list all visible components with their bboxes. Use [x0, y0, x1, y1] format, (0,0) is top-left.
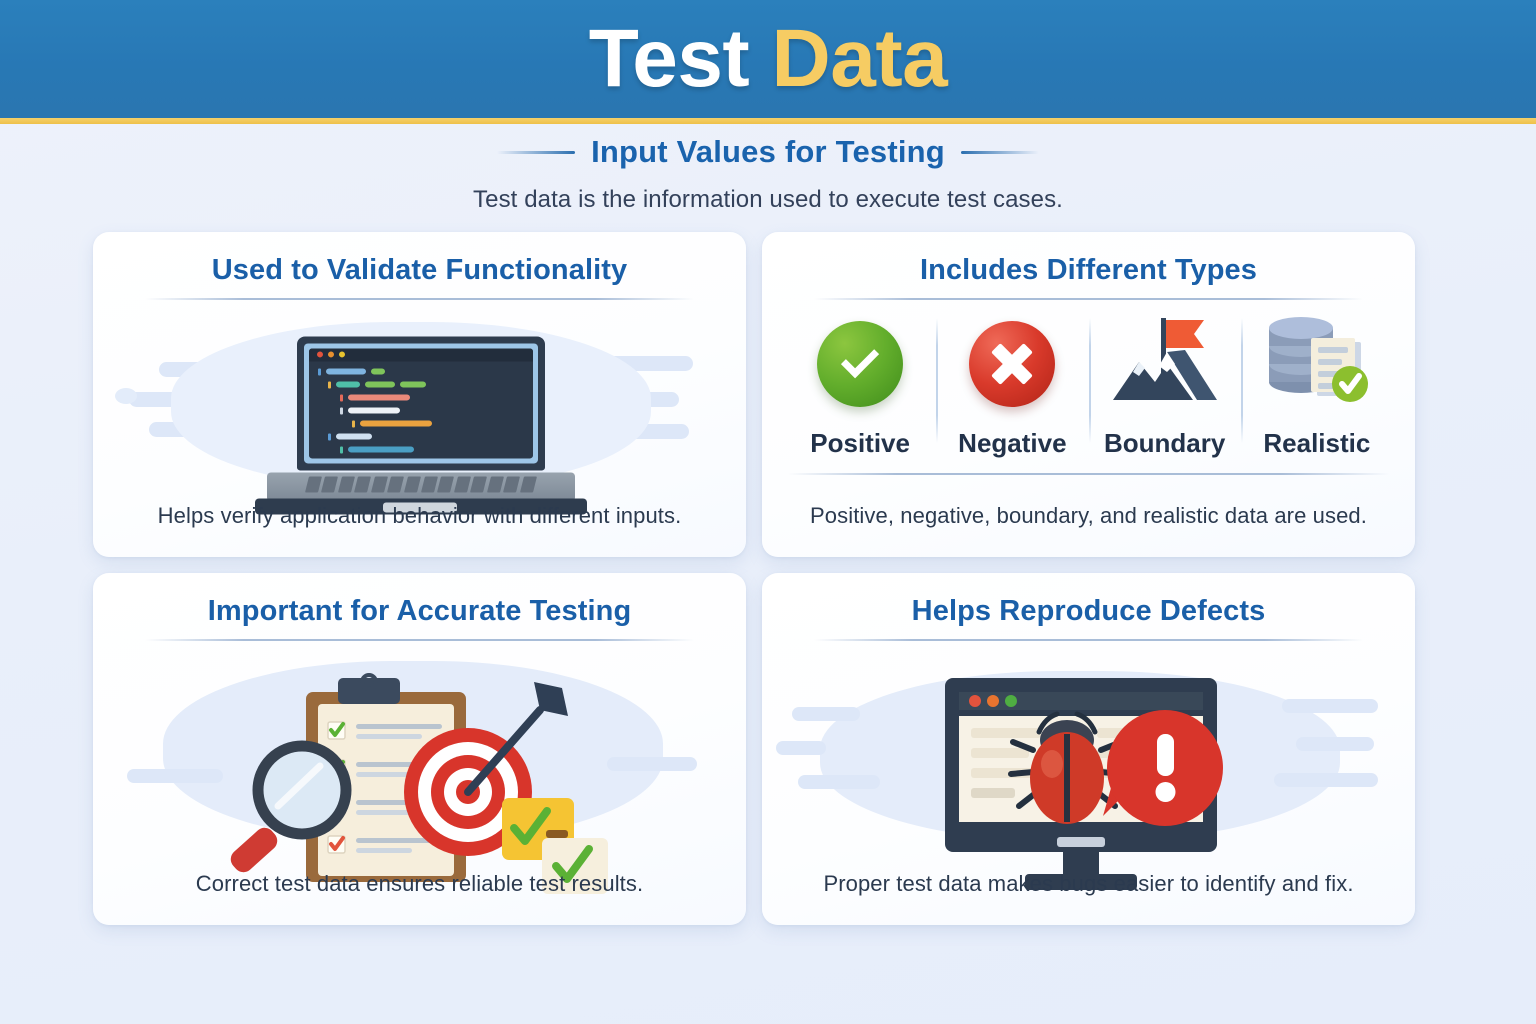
defect-monitor-graphic — [889, 672, 1289, 894]
subheader-description: Test data is the information used to exe… — [0, 186, 1536, 214]
card-caption: Helps verify application behavior with d… — [93, 503, 746, 529]
page-title-accent: Data — [772, 13, 948, 104]
page-title: Test Data — [589, 18, 948, 100]
type-label: Boundary — [1104, 428, 1225, 459]
laptop-lid — [297, 336, 545, 470]
testing-accuracy-graphic — [210, 670, 630, 896]
page-banner: Test Data — [0, 0, 1536, 118]
card-title: Helps Reproduce Defects — [912, 595, 1266, 628]
type-item-negative[interactable]: Negative — [936, 310, 1088, 459]
laptop-keys — [307, 476, 535, 492]
window-titlebar — [309, 348, 533, 361]
window-maximize-dot — [339, 351, 345, 357]
subheader: Input Values for Testing — [0, 134, 1536, 170]
data-type-row: Positive Negative — [762, 300, 1415, 459]
type-label: Negative — [958, 428, 1066, 459]
card-caption: Proper test data makes bugs easier to id… — [762, 871, 1415, 897]
card-bottom-rule — [788, 473, 1389, 475]
subheader-rule-left — [497, 151, 575, 154]
window-minimize-dot — [328, 351, 334, 357]
mountain-flag-icon — [1109, 310, 1221, 418]
code-lines — [309, 361, 533, 458]
card-caption: Positive, negative, boundary, and realis… — [762, 503, 1415, 529]
card-different-types[interactable]: Includes Different Types Positive Negati… — [762, 232, 1415, 557]
type-label: Realistic — [1263, 428, 1370, 459]
green-check-circle-icon — [817, 310, 903, 418]
window-close-dot — [317, 351, 323, 357]
subheader-title: Input Values for Testing — [591, 134, 945, 170]
laptop-screen — [309, 348, 533, 458]
subheader-rule-right — [961, 151, 1039, 154]
database-document-check-icon — [1261, 310, 1373, 418]
card-caption: Correct test data ensures reliable test … — [93, 871, 746, 897]
card-accurate-testing[interactable]: Important for Accurate Testing — [93, 573, 746, 925]
card-validate-functionality[interactable]: Used to Validate Functionality — [93, 232, 746, 557]
type-item-boundary[interactable]: Boundary — [1089, 310, 1241, 459]
card-title: Includes Different Types — [920, 254, 1257, 287]
type-item-realistic[interactable]: Realistic — [1241, 310, 1393, 459]
red-x-circle-icon — [969, 310, 1055, 418]
page-title-primary: Test — [589, 13, 750, 104]
card-title: Important for Accurate Testing — [208, 595, 632, 628]
laptop-device — [255, 336, 585, 514]
type-item-positive[interactable]: Positive — [784, 310, 936, 459]
card-grid: Used to Validate Functionality — [93, 232, 1415, 925]
type-label: Positive — [810, 428, 910, 459]
banner-accent-rule — [0, 118, 1536, 124]
card-reproduce-defects[interactable]: Helps Reproduce Defects — [762, 573, 1415, 925]
card-title: Used to Validate Functionality — [212, 254, 628, 287]
